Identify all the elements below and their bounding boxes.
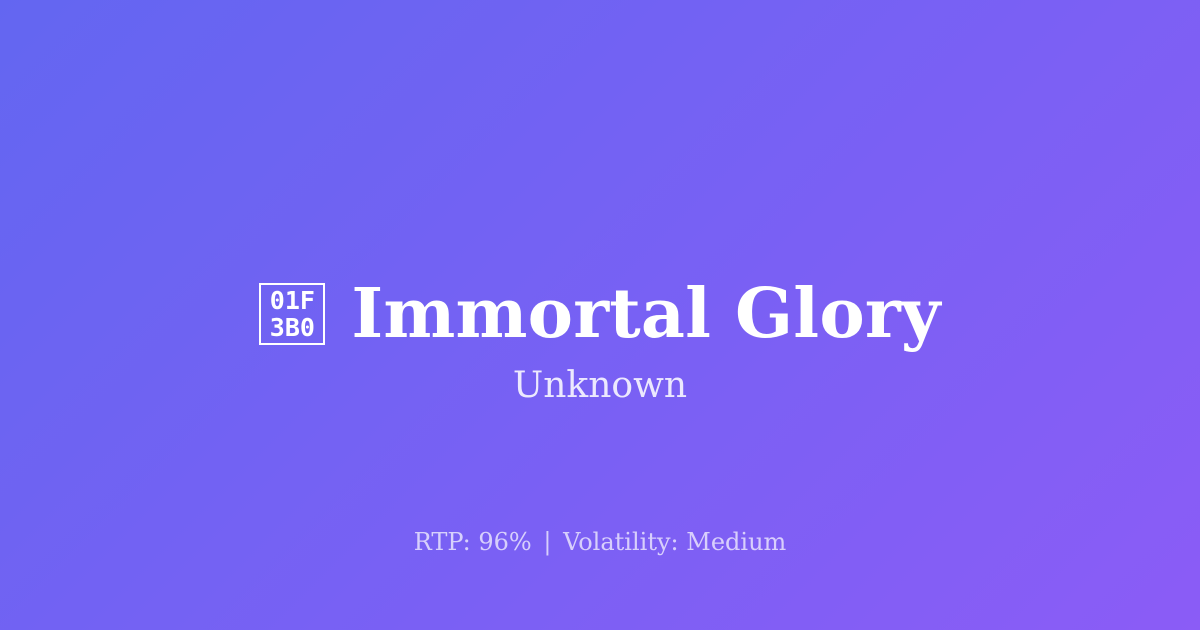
rtp-label: RTP: [414,528,471,556]
page-title: Immortal Glory [351,278,940,351]
volatility-label: Volatility: [563,528,679,556]
slot-machine-emoji-icon: 01F 3B0 [259,283,325,345]
stats-separator: | [539,528,555,556]
game-provider-subtitle: Unknown [0,363,1200,410]
game-stats: RTP: 96% | Volatility: Medium [0,527,1200,558]
codepoint-top: 01F [270,287,315,314]
volatility-value: Medium [686,528,786,556]
codepoint-bottom: 3B0 [270,314,315,341]
game-og-card: 01F 3B0 Immortal Glory Unknown RTP: 96% … [0,0,1200,630]
rtp-value: 96% [478,528,531,556]
